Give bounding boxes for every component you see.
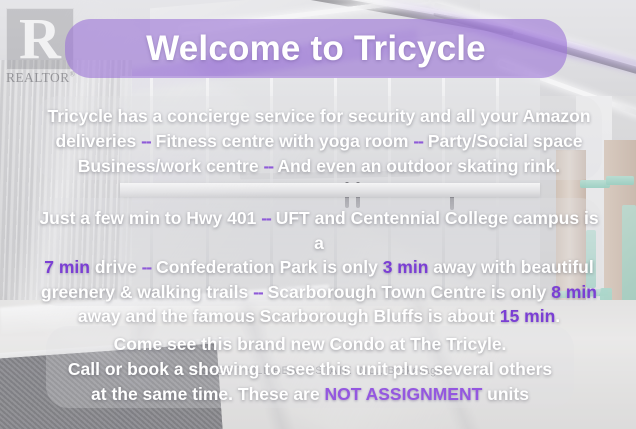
amenities-line1-text: Tricycle has a concierge service for sec…: [47, 106, 590, 126]
location-beautiful-text: away with beautiful: [433, 257, 593, 277]
amenities-line-1: Tricycle has a concierge service for sec…: [36, 104, 602, 129]
location-line-1: Just a few min to Hwy 401 -- UFT and Cen…: [36, 206, 602, 255]
separator-dashes: --: [413, 131, 423, 151]
location-hwy-text: Just a few min to Hwy 401: [39, 208, 256, 228]
cta-units-text: units: [487, 384, 529, 404]
amenities-deliveries-text: deliveries: [55, 131, 136, 151]
location-park-text: Confederation Park is only: [156, 257, 378, 277]
amenities-line-3: Business/work centre -- And even an outd…: [36, 154, 602, 179]
location-campus-text: UFT and Centennial College campus is a: [276, 208, 599, 253]
separator-dashes: --: [263, 156, 273, 176]
location-bluffs-text: away and the famous Scarborough Bluffs i…: [78, 306, 495, 326]
amenities-rink-text: And even an outdoor skating rink.: [277, 156, 560, 176]
cta-line-1: Come see this brand new Condo at The Tri…: [46, 332, 574, 357]
not-assignment-highlight: NOT ASSIGNMENT: [324, 384, 482, 404]
amenities-fitness-text: Fitness centre with yoga room: [156, 131, 409, 151]
drive-time-15min: 15 min: [500, 306, 555, 326]
realtor-logo-word-text: REALTOR: [6, 70, 70, 85]
realtor-logo-letter: R: [19, 14, 61, 66]
amenities-line-2: deliveries -- Fitness centre with yoga r…: [36, 129, 602, 154]
amenities-business-text: Business/work centre: [78, 156, 259, 176]
separator-dashes: --: [253, 282, 263, 302]
cta-line-3: at the same time. These are NOT ASSIGNME…: [46, 382, 574, 407]
location-period: .: [555, 306, 560, 326]
separator-dashes: --: [142, 257, 152, 277]
drive-time-8min: 8 min: [551, 282, 597, 302]
amenities-party-text: Party/Social space: [428, 131, 583, 151]
location-line-2: 7 min drive -- Confederation Park is onl…: [36, 255, 602, 280]
amenities-text-block: Tricycle has a concierge service for sec…: [36, 104, 602, 179]
drive-time-3min: 3 min: [383, 257, 429, 277]
location-stc-text: Scarborough Town Centre is only: [268, 282, 547, 302]
realtor-logo-watermark: R REALTOR®: [6, 8, 74, 90]
drive-time-7min: 7 min: [44, 257, 90, 277]
cta-line-2: Call or book a showing to see this unit …: [46, 357, 574, 382]
cta-same-time-text: at the same time. These are: [91, 384, 320, 404]
location-greenery-text: greenery & walking trails: [41, 282, 248, 302]
location-line-4: away and the famous Scarborough Bluffs i…: [36, 304, 602, 329]
location-drive-text: drive: [95, 257, 137, 277]
page-title: Welcome to Tricycle: [65, 22, 567, 76]
separator-dashes: --: [261, 208, 271, 228]
cta-text-block: Come see this brand new Condo at The Tri…: [46, 332, 574, 407]
location-line-3: greenery & walking trails -- Scarborough…: [36, 280, 602, 305]
location-text-block: Just a few min to Hwy 401 -- UFT and Cen…: [36, 206, 602, 329]
listing-slide: R REALTOR® Welcome to Tricycle Tricycle …: [0, 0, 636, 429]
separator-dashes: --: [141, 131, 151, 151]
